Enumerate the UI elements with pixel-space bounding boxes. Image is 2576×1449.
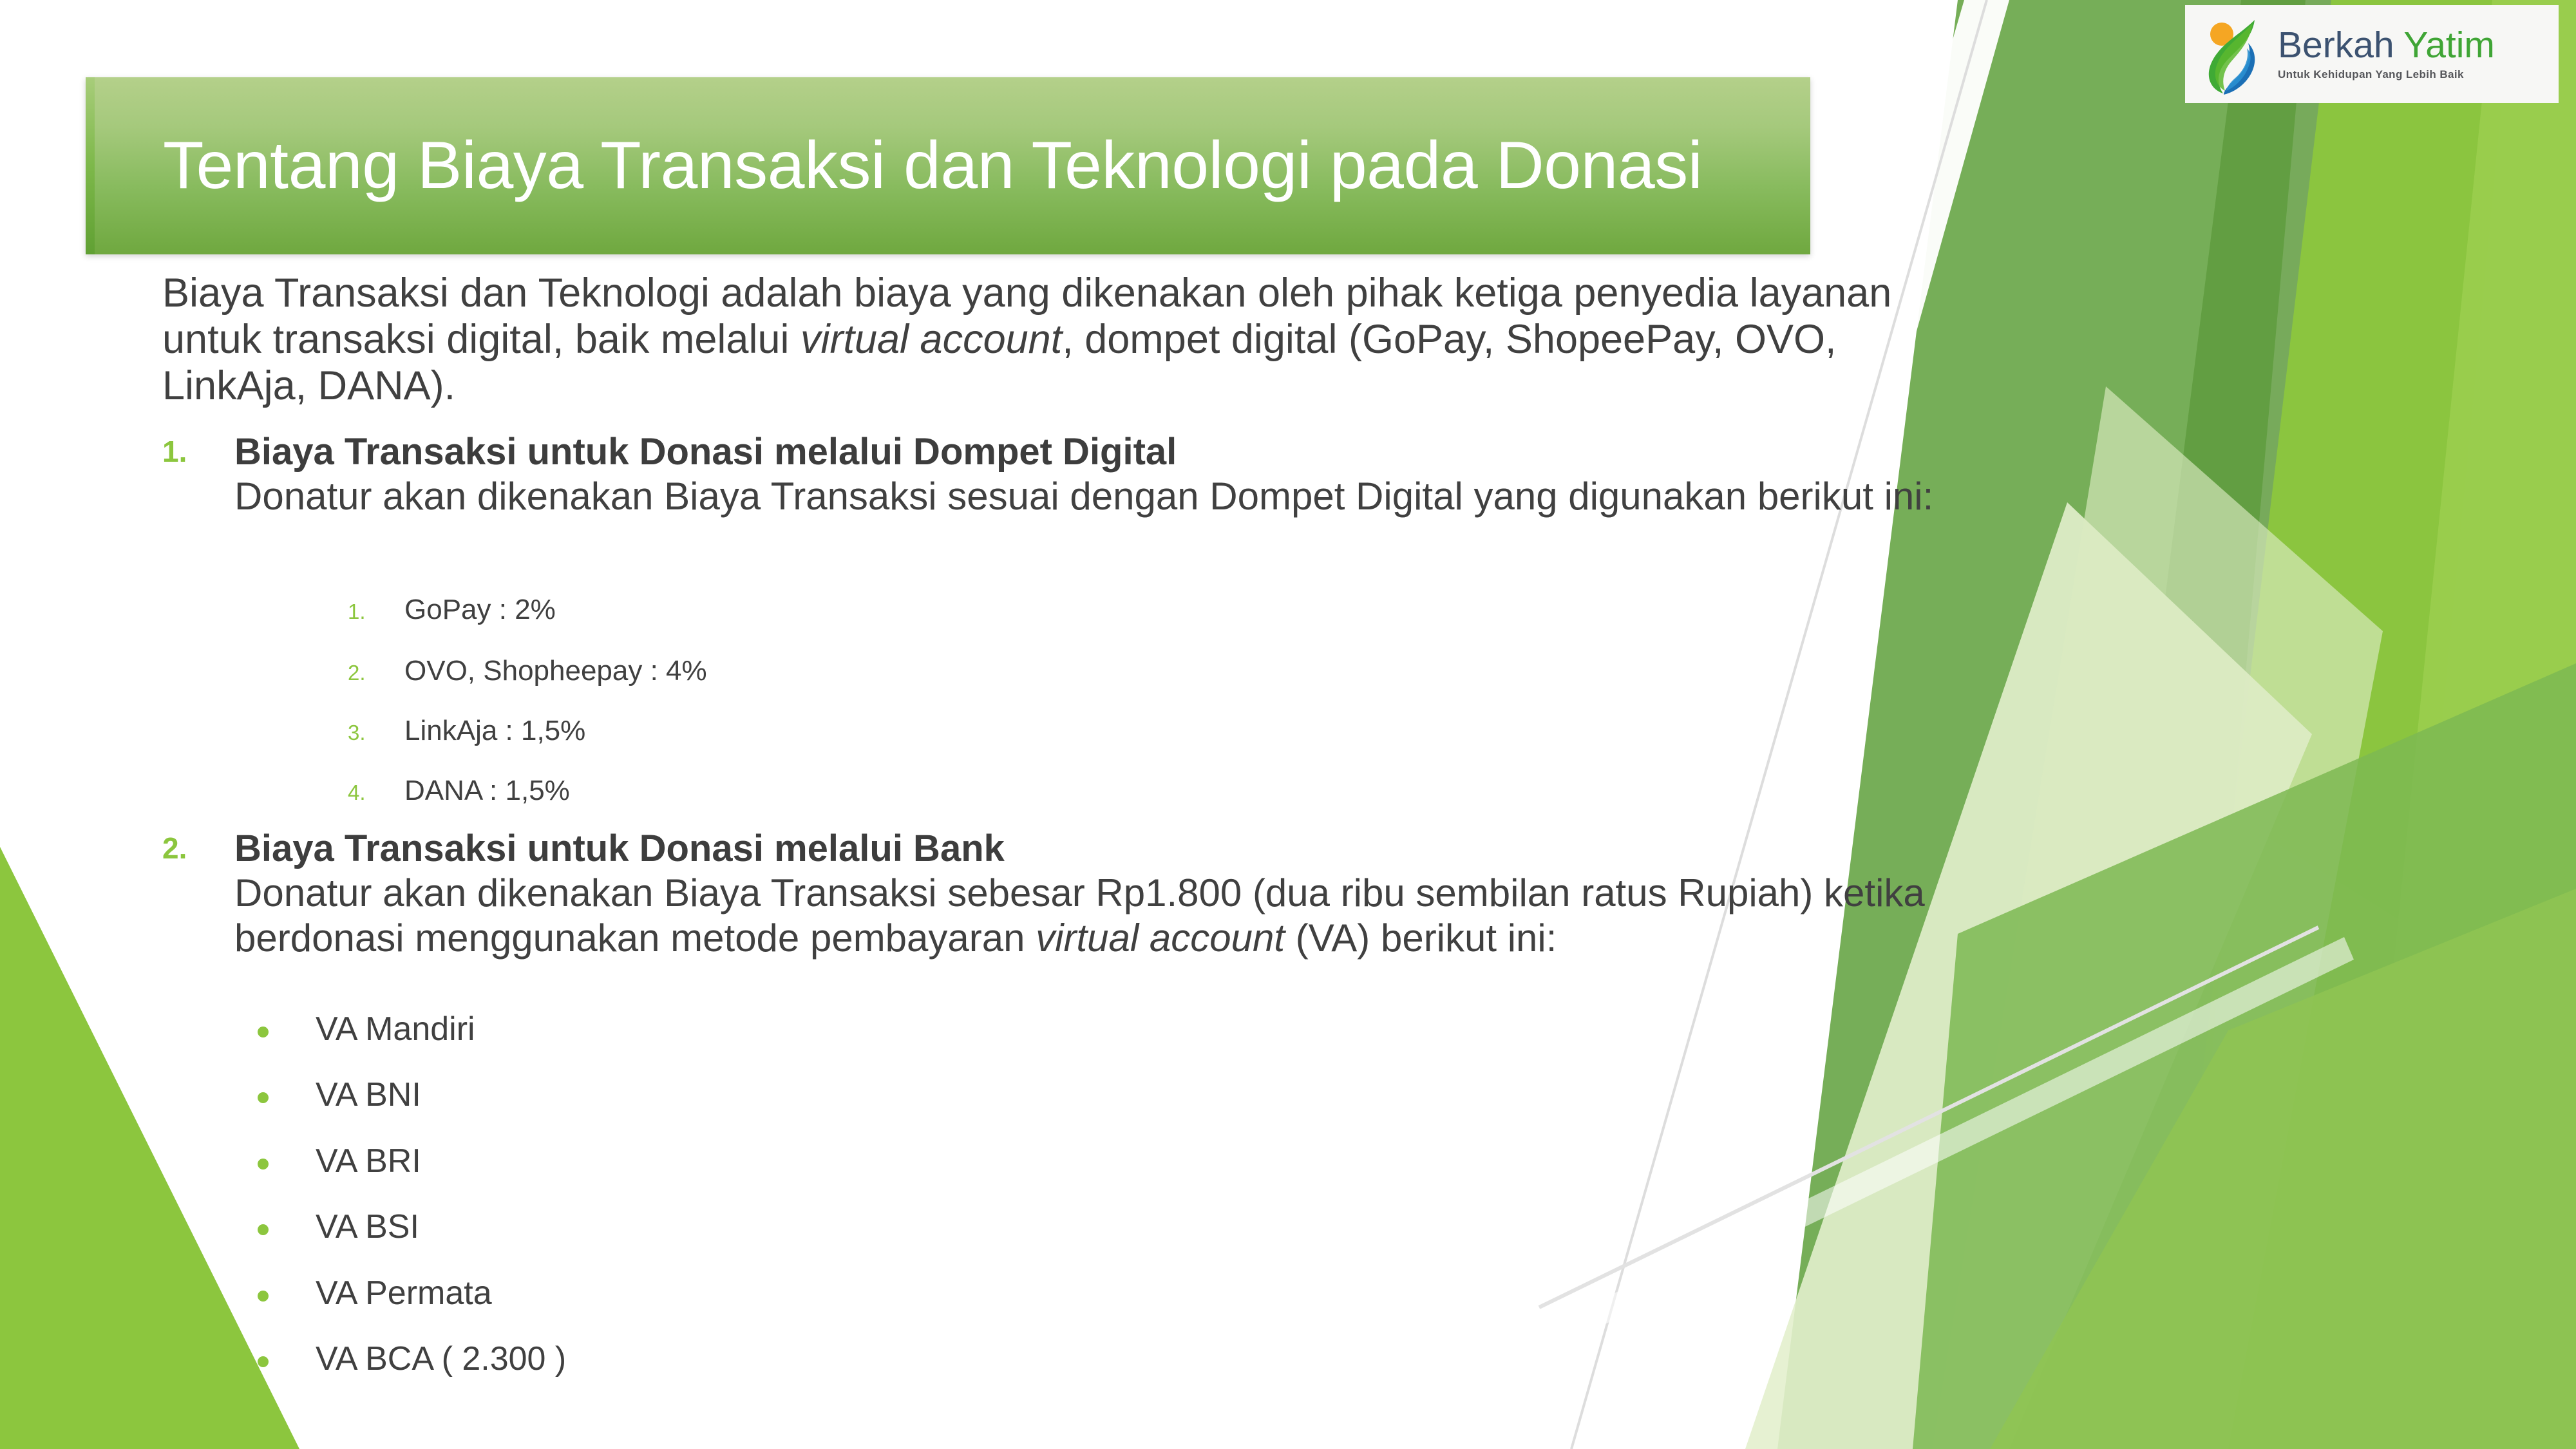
section-2-heading: Biaya Transaksi untuk Donasi melalui Ban… [234, 828, 1005, 869]
slide-title-bar: Tentang Biaya Transaksi dan Teknologi pa… [86, 77, 1810, 254]
section-1-number: 1. [162, 434, 214, 469]
bullet-item-va-bri: VA BRI [258, 1142, 1288, 1180]
bullet-dot-icon [258, 1027, 269, 1037]
bullet-dot-icon [258, 1356, 269, 1367]
decor-pale-wedge [1745, 502, 2312, 1449]
bullet-item-va-bsi: VA BSI [258, 1207, 1288, 1246]
bullet-dot-icon [258, 1159, 269, 1170]
section-1-description: Donatur akan dikenakan Biaya Transaksi s… [234, 475, 1933, 518]
bullet-1-label: VA Mandiri [316, 1010, 1288, 1048]
bullet-2-label: VA BNI [316, 1075, 1288, 1114]
bullet-item-va-bni: VA BNI [258, 1075, 1288, 1114]
section-1-heading: Biaya Transaksi untuk Donasi melalui Dom… [234, 431, 1177, 473]
decor-right-midgreen-1 [1777, 0, 2306, 1449]
sublist-item-linkaja: 3. LinkAja : 1,5% [348, 715, 1378, 747]
bullet-item-va-mandiri: VA Mandiri [258, 1010, 1288, 1048]
berkah-yatim-mark-icon [2193, 12, 2269, 96]
decor-right-lime [2157, 0, 2576, 1449]
section-2-number: 2. [162, 831, 214, 866]
sublist-3-label: LinkAja : 1,5% [404, 715, 1378, 747]
decor-right-darkgreen [2145, 0, 2512, 934]
decor-diagonal-band-2 [1990, 889, 2576, 1449]
logo-wordmark: Berkah Yatim Untuk Kehidupan Yang Lebih … [2278, 27, 2495, 81]
bullet-4-label: VA BSI [316, 1207, 1288, 1246]
decor-hairline-diagonal [1539, 927, 2318, 1307]
decor-white-slash-diagonal [1533, 937, 2354, 1356]
sublist-4-label: DANA : 1,5% [404, 775, 1378, 807]
lead-paragraph: Biaya Transaksi dan Teknologi adalah bia… [162, 270, 1920, 409]
sublist-4-number: 4. [348, 781, 386, 805]
bullet-item-va-bca: VA BCA ( 2.300 ) [258, 1340, 1288, 1378]
decor-right-lime-2 [2344, 0, 2576, 1449]
bullet-dot-icon [258, 1092, 269, 1103]
decor-pale-wedge-2 [1932, 386, 2383, 1449]
section-item-2: 2. Biaya Transaksi untuk Donasi melalui … [162, 826, 1953, 961]
sublist-1-number: 1. [348, 600, 386, 624]
organization-logo: Berkah Yatim Untuk Kehidupan Yang Lebih … [2185, 5, 2559, 103]
bullet-dot-icon [258, 1291, 269, 1302]
sublist-2-number: 2. [348, 661, 386, 685]
bullet-dot-icon [258, 1224, 269, 1235]
bullet-item-va-permata: VA Permata [258, 1274, 1288, 1312]
sublist-item-gopay: 1. GoPay : 2% [348, 594, 1378, 626]
bullet-3-label: VA BRI [316, 1142, 1288, 1180]
section-2-description-italic: virtual account [1036, 916, 1285, 960]
sublist-3-number: 3. [348, 721, 386, 745]
sublist-item-ovo-shopheepay: 2. OVO, Shopheepay : 4% [348, 655, 1378, 687]
sublist-item-dana: 4. DANA : 1,5% [348, 775, 1378, 807]
logo-title: Berkah Yatim [2278, 27, 2495, 64]
decor-diagonal-band [1913, 663, 2576, 1449]
logo-word-primary: Berkah [2278, 24, 2394, 66]
section-item-1: 1. Biaya Transaksi untuk Donasi melalui … [162, 429, 1953, 519]
section-2-body: Biaya Transaksi untuk Donasi melalui Ban… [234, 826, 1953, 961]
bullet-6-label: VA BCA ( 2.300 ) [316, 1340, 1288, 1378]
bullet-5-label: VA Permata [316, 1274, 1288, 1312]
lead-paragraph-italic: virtual account [800, 317, 1062, 362]
section-2-description-part2: (VA) berikut ini: [1285, 916, 1557, 960]
logo-tagline: Untuk Kehidupan Yang Lebih Baik [2278, 68, 2495, 81]
sublist-2-label: OVO, Shopheepay : 4% [404, 655, 1378, 687]
page-title: Tentang Biaya Transaksi dan Teknologi pa… [163, 77, 1791, 254]
section-1-body: Biaya Transaksi untuk Donasi melalui Dom… [234, 429, 1953, 519]
section-2-description: Donatur akan dikenakan Biaya Transaksi s… [234, 871, 1925, 960]
sublist-1-label: GoPay : 2% [404, 594, 1378, 626]
presentation-slide: Tentang Biaya Transaksi dan Teknologi pa… [0, 0, 2576, 1449]
title-bar-left-accent [86, 77, 95, 254]
logo-word-secondary: Yatim [2403, 24, 2494, 66]
